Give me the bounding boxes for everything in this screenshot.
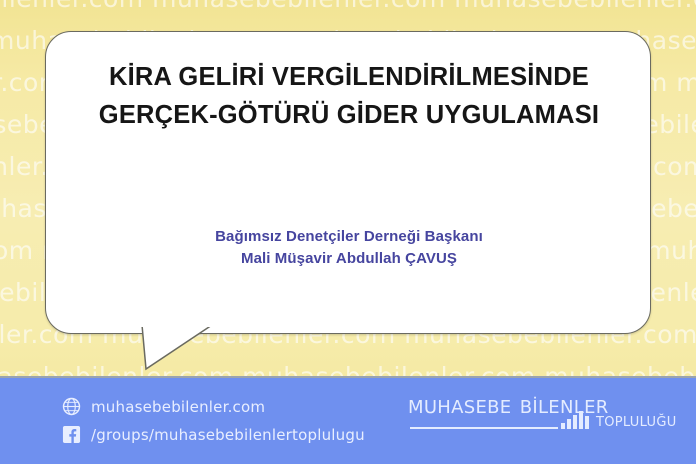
poster-canvas: muhasebebilenler.com muhasebebilenler.co… xyxy=(0,0,696,464)
title-line-2: GERÇEK-GÖTÜRÜ GİDER UYGULAMASI xyxy=(46,96,652,134)
brand-logo-rule xyxy=(410,427,558,429)
footer-bar: muhasebebilenler.com /groups/muhasebebil… xyxy=(0,376,696,464)
website-label: muhasebebilenler.com xyxy=(91,398,265,416)
facebook-icon xyxy=(62,425,81,444)
facebook-label: /groups/muhasebebilenlertoplulugu xyxy=(91,426,365,444)
watermark-row: muhasebebilenler.com muhasebebilenler.co… xyxy=(0,364,696,376)
brand-logo-line-2: TOPLULUĞU xyxy=(596,409,677,431)
bar-chart-icon xyxy=(560,410,594,429)
watermark-row: muhasebebilenler.com muhasebebilenler.co… xyxy=(0,0,696,11)
contact-website[interactable]: muhasebebilenler.com xyxy=(62,394,365,419)
brand-logo: MUHASEBE BİLENLER TOPLULUĞU xyxy=(408,390,656,452)
globe-icon xyxy=(62,397,81,416)
speaker-title: Bağımsız Denetçiler Derneği Başkanı xyxy=(46,226,652,248)
speech-bubble-tail xyxy=(140,325,220,373)
contact-facebook[interactable]: /groups/muhasebebilenlertoplulugu xyxy=(62,422,365,447)
speaker-credit: Bağımsız Denetçiler Derneği Başkanı Mali… xyxy=(46,226,652,270)
speech-bubble-content: KİRA GELİRİ VERGİLENDİRİLMESİNDE GERÇEK-… xyxy=(46,32,652,335)
speaker-name: Mali Müşavir Abdullah ÇAVUŞ xyxy=(46,248,652,270)
title-line-1: KİRA GELİRİ VERGİLENDİRİLMESİNDE xyxy=(46,58,652,96)
contact-list: muhasebebilenler.com /groups/muhasebebil… xyxy=(62,394,365,450)
speech-bubble: KİRA GELİRİ VERGİLENDİRİLMESİNDE GERÇEK-… xyxy=(45,31,651,334)
page-title: KİRA GELİRİ VERGİLENDİRİLMESİNDE GERÇEK-… xyxy=(46,58,652,134)
